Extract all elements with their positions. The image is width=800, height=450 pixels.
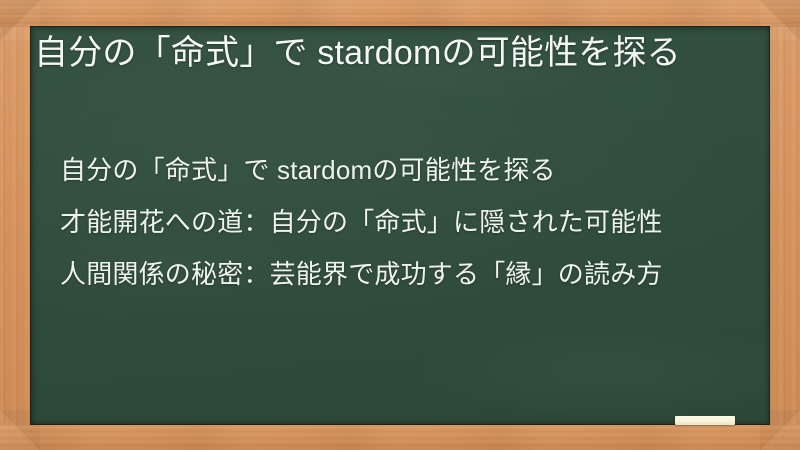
list-item: 人間関係の秘密：芸能界で成功する「縁」の読み方 <box>60 256 742 292</box>
frame-rail-top <box>0 0 800 27</box>
topic-list: 自分の「命式」で stardomの可能性を探る 才能開花への道：自分の「命式」に… <box>60 152 742 292</box>
page-title: 自分の「命式」で stardomの可能性を探る <box>34 30 740 76</box>
list-item: 才能開花への道：自分の「命式」に隠された可能性 <box>60 204 742 240</box>
list-item: 自分の「命式」で stardomの可能性を探る <box>60 152 742 188</box>
chalkboard-slide: 自分の「命式」で stardomの可能性を探る 自分の「命式」で stardom… <box>0 0 800 450</box>
frame-rail-bottom <box>0 425 800 450</box>
chalkboard-surface: 自分の「命式」で stardomの可能性を探る 自分の「命式」で stardom… <box>30 26 770 425</box>
chalk-stick-icon <box>675 416 735 425</box>
